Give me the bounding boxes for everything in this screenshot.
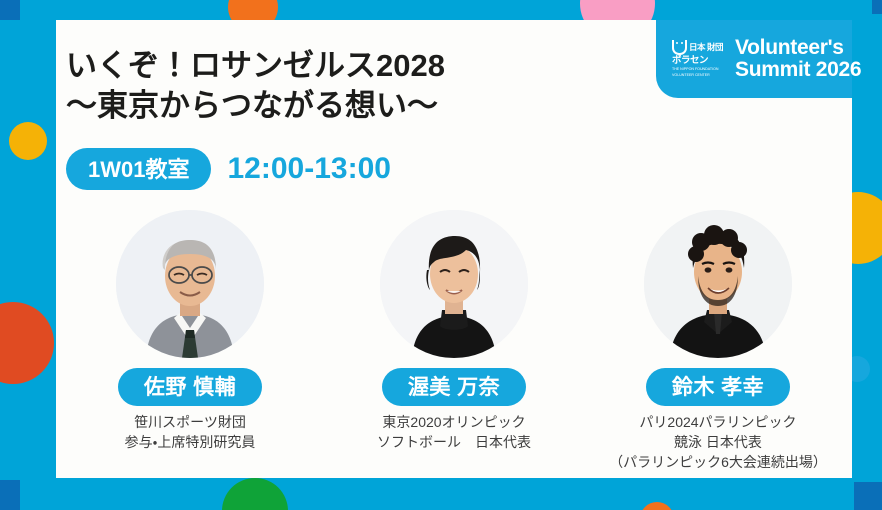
corner-accent-top-right (872, 0, 882, 14)
speaker-photo (644, 210, 792, 358)
speaker-affiliation-line: 笹川スポーツ財団 (125, 413, 256, 433)
event-logo-title-line2: Summit 2026 (735, 59, 861, 81)
speaker-card: 渥美 万奈 東京2020オリンピック ソフトボール 日本代表 (334, 210, 574, 473)
speaker-affiliation-line: 参与・上席特別研究員 (125, 433, 256, 453)
logo-mark-jp-line2: 財団 (707, 43, 723, 52)
nippon-foundation-volunteer-center-logo-icon: 日本 財団 ボラセン THE NIPPON FOUNDATION VOLUNTE… (672, 38, 726, 80)
speaker-affiliation-line: 競泳 日本代表 (609, 433, 827, 453)
logo-u-shape-icon (672, 40, 687, 55)
speaker-affiliation-line: パリ2024パラリンピック (609, 413, 827, 433)
decoration-dot-yellow-left (9, 122, 47, 160)
speaker-card: 佐野 慎輔 笹川スポーツ財団 参与・上席特別研究員 (70, 210, 310, 473)
speaker-affiliation-line: （パラリンピック6大会連続出場） (609, 453, 827, 473)
speaker-affiliation: 東京2020オリンピック ソフトボール 日本代表 (377, 413, 531, 453)
event-logo-badge: 日本 財団 ボラセン THE NIPPON FOUNDATION VOLUNTE… (656, 20, 852, 98)
speaker-photo (116, 210, 264, 358)
speaker-affiliation: 笹川スポーツ財団 参与・上席特別研究員 (125, 413, 256, 453)
session-meta: 1W01教室 12:00-13:00 (66, 148, 391, 190)
speaker-list: 佐野 慎輔 笹川スポーツ財団 参与・上席特別研究員 (56, 210, 852, 473)
speaker-name-badge: 渥美 万奈 (382, 368, 526, 406)
speaker-name-badge: 佐野 慎輔 (118, 368, 262, 406)
logo-mark-jp-line3: ボラセン (672, 56, 708, 66)
speaker-affiliation: パリ2024パラリンピック 競泳 日本代表 （パラリンピック6大会連続出場） (609, 413, 827, 473)
event-logo-title-line1: Volunteer's (735, 37, 861, 59)
event-logo-title: Volunteer's Summit 2026 (735, 37, 861, 81)
speaker-name-badge: 鈴木 孝幸 (646, 368, 790, 406)
logo-mark-en-line1: THE NIPPON FOUNDATION (672, 67, 718, 72)
logo-mark-jp-line1: 日本 (689, 43, 705, 52)
session-title: いくぞ！ロサンゼルス2028 〜東京からつながる想い〜 (66, 46, 445, 127)
logo-mark-en-line2: VOLUNTEER CENTER (672, 73, 710, 78)
corner-accent-top-left (0, 0, 20, 20)
session-title-line2: 〜東京からつながる想い〜 (66, 86, 445, 126)
corner-accent-bottom-right (854, 482, 882, 510)
speaker-card: 鈴木 孝幸 パリ2024パラリンピック 競泳 日本代表 （パラリンピック6大会連… (598, 210, 838, 473)
session-title-line1: いくぞ！ロサンゼルス2028 (66, 46, 445, 86)
session-time: 12:00-13:00 (227, 152, 390, 186)
speaker-photo (380, 210, 528, 358)
corner-accent-bottom-left (0, 480, 20, 510)
speaker-affiliation-line: 東京2020オリンピック (377, 413, 531, 433)
session-room-badge: 1W01教室 (66, 148, 211, 190)
content-card: 日本 財団 ボラセン THE NIPPON FOUNDATION VOLUNTE… (56, 20, 852, 478)
speaker-affiliation-line: ソフトボール 日本代表 (377, 433, 531, 453)
session-slide: 日本 財団 ボラセン THE NIPPON FOUNDATION VOLUNTE… (0, 0, 882, 510)
